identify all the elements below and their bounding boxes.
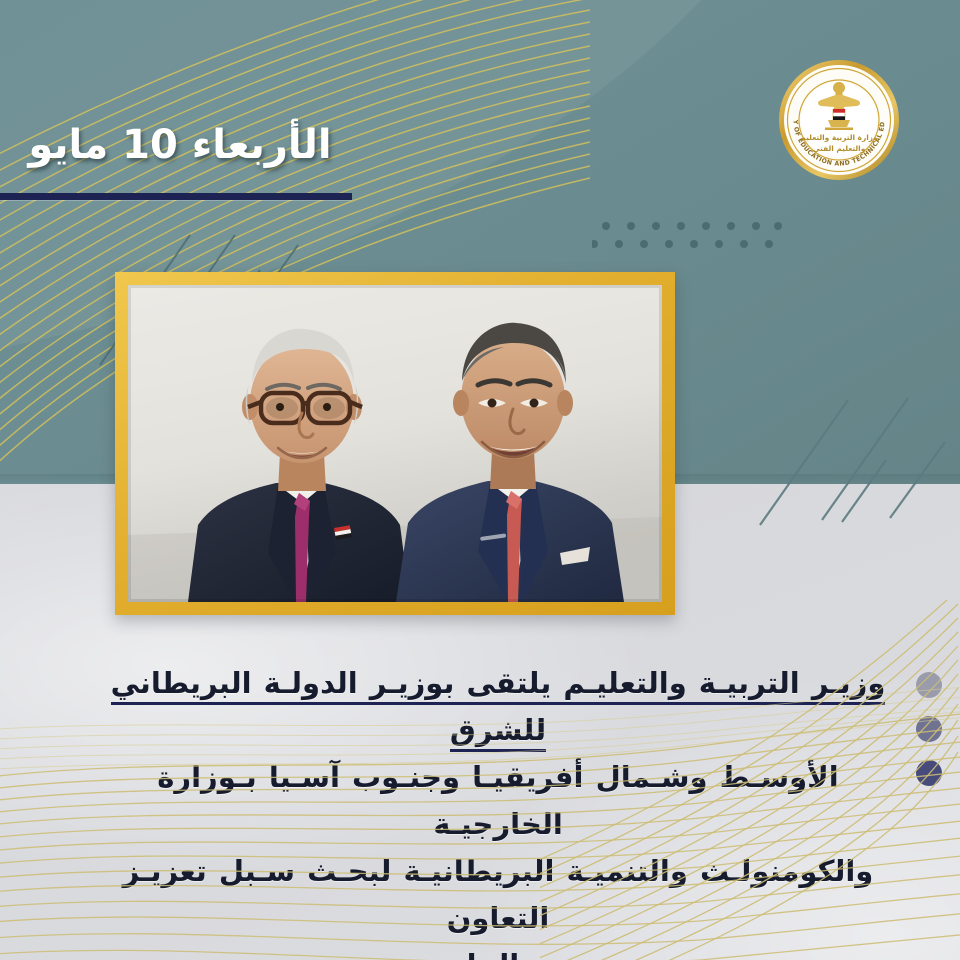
social-media-card: الأربعاء 10 مايو MINISTRY OF EDUCATION A… [0,0,960,960]
headline-text-block: وزيـر التربيـة والتعليـم يلتقى بوزيـر ال… [98,660,898,960]
headline-line-1: وزيـر التربيـة والتعليـم يلتقى بوزيـر ال… [98,660,898,754]
headline-line-4: بيـن الجانبين [98,942,898,960]
bullet-dot-mid-icon [916,716,942,742]
bullet-dot-group [916,672,942,786]
date-label: الأربعاء 10 مايو [0,122,360,169]
meeting-photo [128,285,662,602]
date-badge: الأربعاء 10 مايو [0,122,360,169]
headline-line-2: الأوسـط وشـمال أفريقيـا وجنـوب آسـيا بـو… [98,754,898,848]
date-underline-rule [0,193,352,200]
ministry-seal-logo-icon: MINISTRY OF EDUCATION AND TECHNICAL EDUC… [777,58,901,182]
headline-line-3: والكومنولـث والتنميـة البريطانيـة لبحـث … [98,848,898,942]
bullet-dot-dark-icon [916,760,942,786]
svg-text:وزارة التربية والتعليم: وزارة التربية والتعليم [800,133,878,142]
svg-text:والتعليم الفني: والتعليم الفني [813,144,866,153]
headline-line-1-text: وزيـر التربيـة والتعليـم يلتقى بوزيـر ال… [111,666,886,752]
photo-frame [115,272,675,615]
bullet-dot-light-icon [916,672,942,698]
